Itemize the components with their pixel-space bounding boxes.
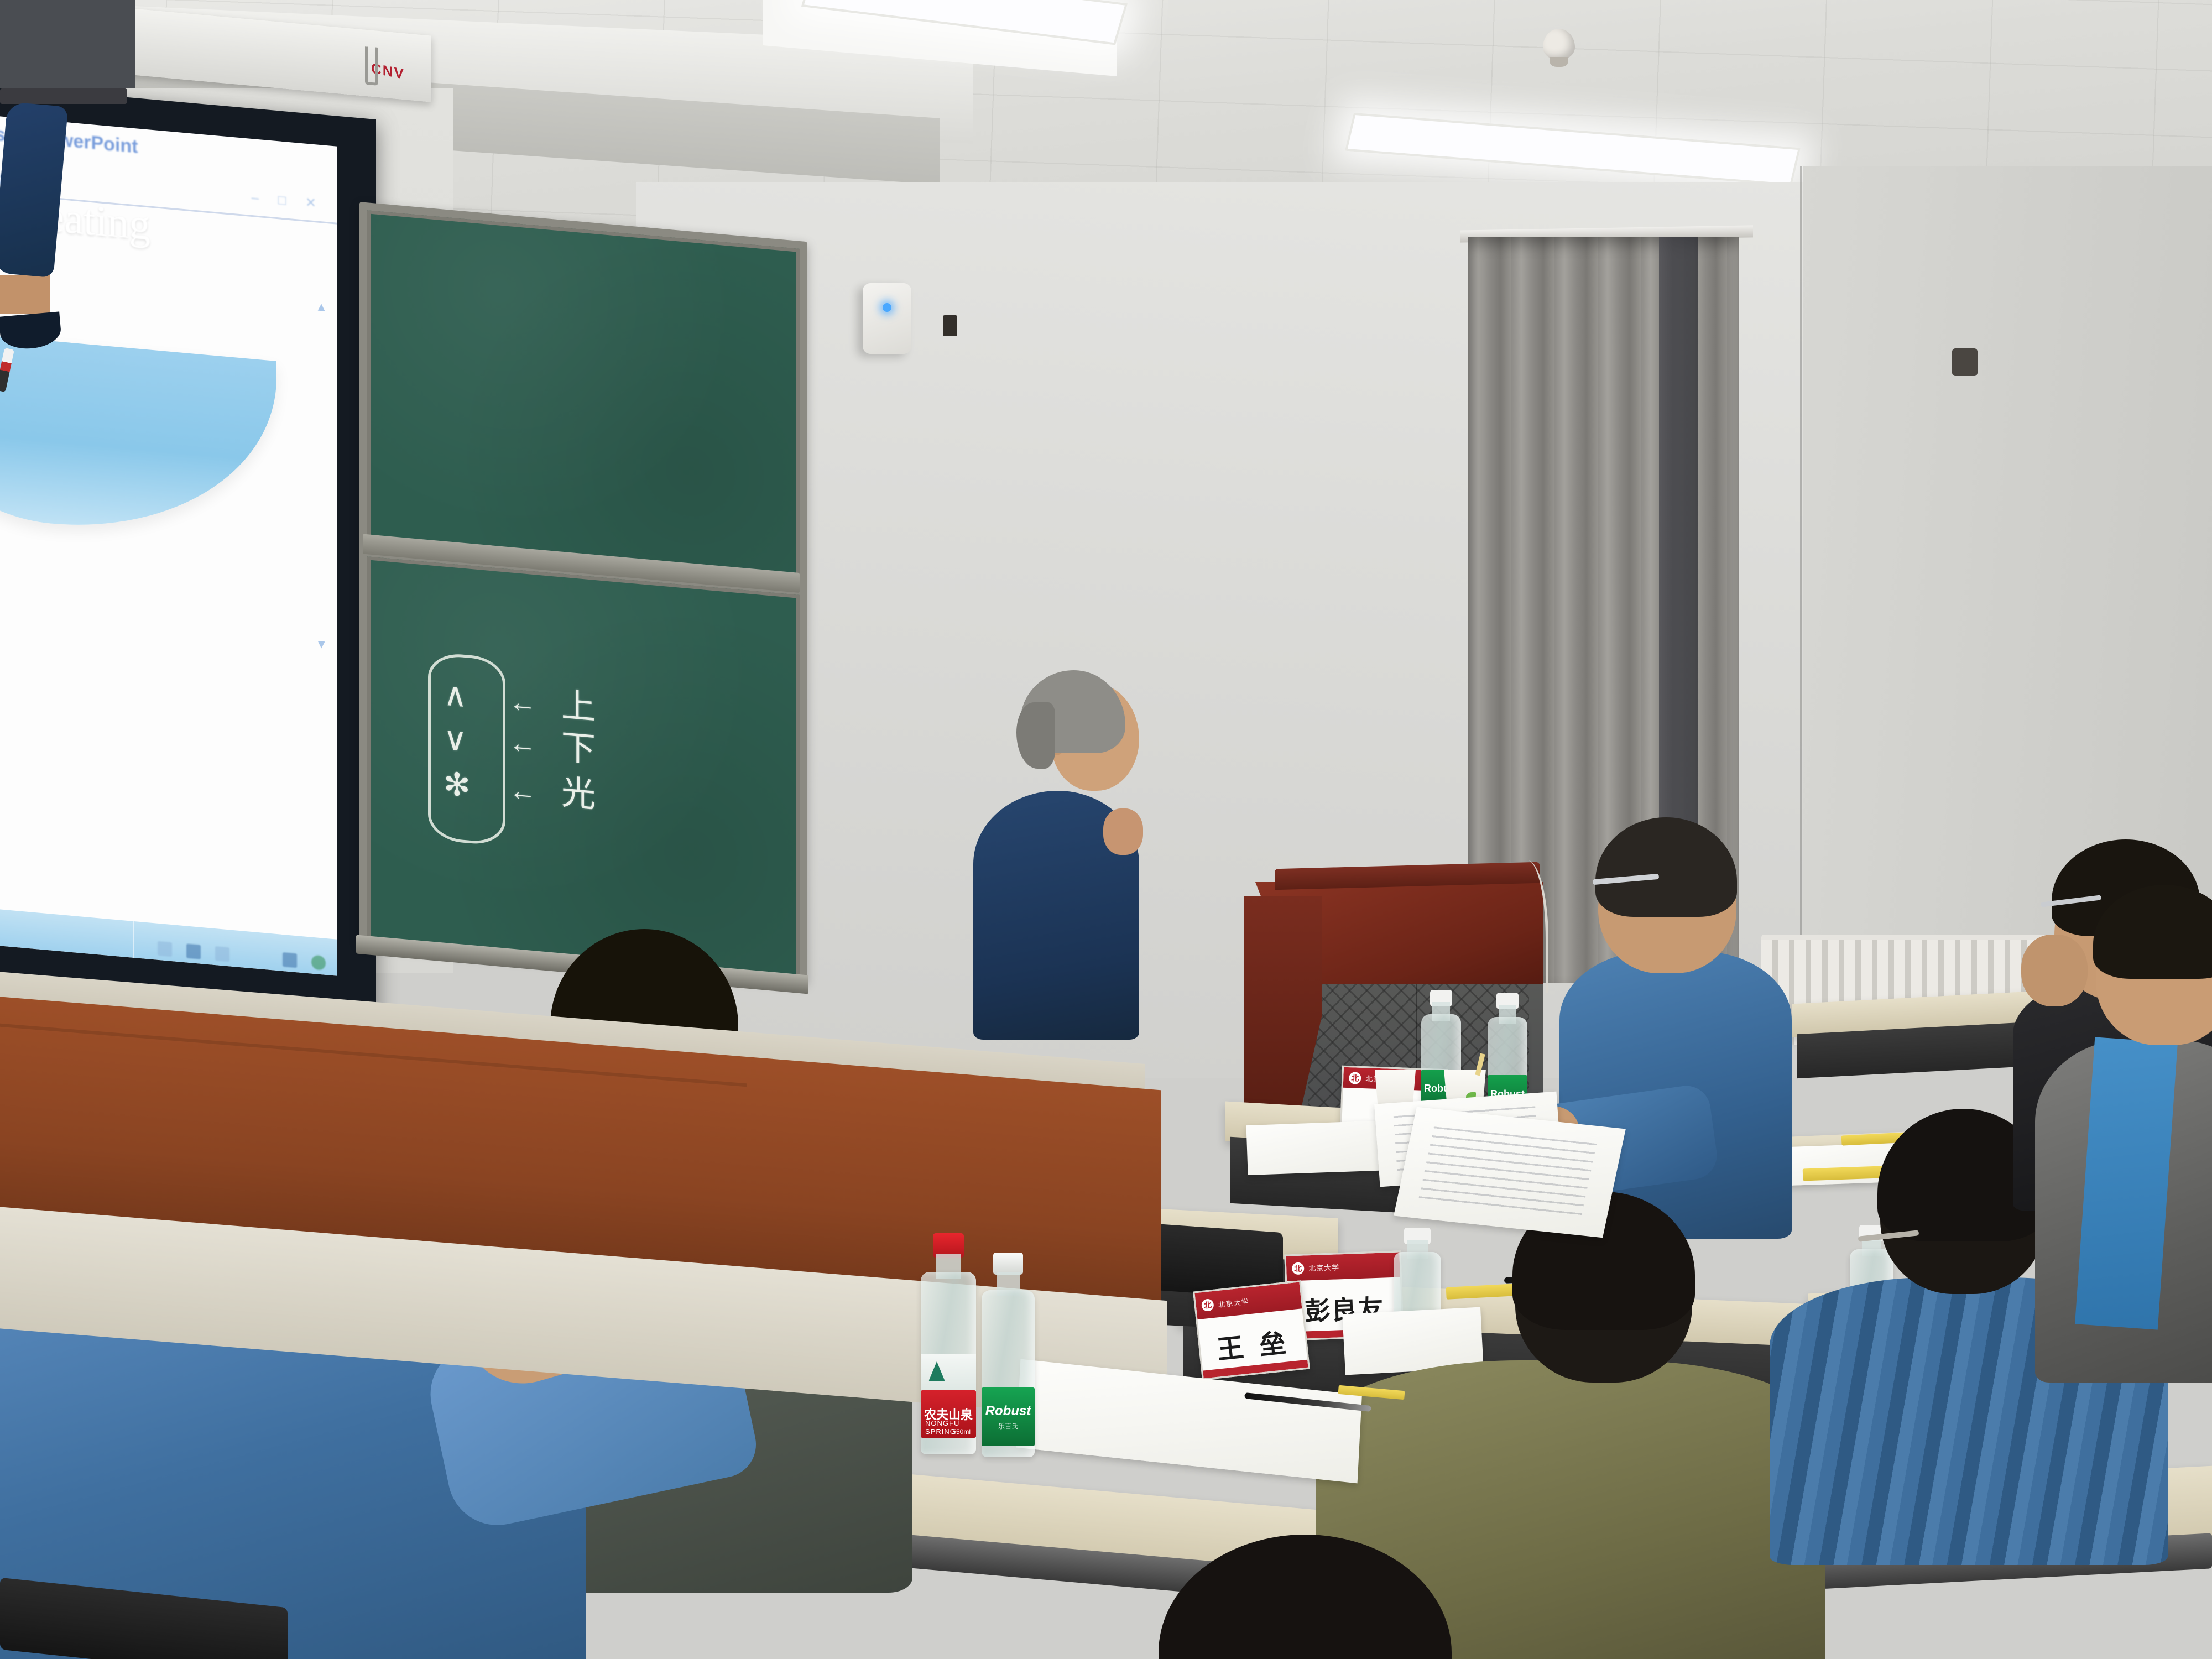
presenter-neck: [0, 275, 50, 314]
blackboard: ∧ ← 上 ∨ ← 下 ✻ ← 光: [359, 202, 807, 983]
tray-icon-document[interactable]: [186, 943, 201, 959]
university-logo-icon: 北: [1292, 1262, 1305, 1275]
university-logo-icon: 北: [1201, 1298, 1214, 1312]
bottle-label-white: [921, 1354, 976, 1390]
bottle-body: 农夫山泉 NONGFU SPRING 550ml: [921, 1272, 976, 1454]
chalk-label-xia: 下: [561, 719, 596, 772]
bottle-label: Robust 乐百氏: [982, 1387, 1035, 1446]
presenter-belt: [0, 88, 127, 104]
lecture-room-photo: CNV Microsoft PowerPoint – □ ✕ 幻灯片放映 设计模…: [0, 0, 2212, 1659]
scroll-down-icon[interactable]: ▼: [315, 637, 327, 652]
presenter-trousers: [0, 0, 135, 88]
taskbar-divider: [133, 921, 134, 958]
document-text-lines: [1418, 1126, 1597, 1220]
logo-glyph: 北: [1351, 1072, 1359, 1083]
audience-hand: [2021, 935, 2088, 1006]
bottle-cap: [993, 1253, 1023, 1275]
blackboard-panel-lower: ∧ ← 上 ∨ ← 下 ✻ ← 光: [367, 556, 800, 981]
chalk-arrow-1: ←: [509, 685, 536, 719]
presenter-arm: [0, 102, 68, 278]
wall-corner-seam: [1800, 166, 1802, 1062]
university-name: 北京大学: [1308, 1261, 1340, 1273]
chalk-label-guang: 光: [561, 764, 596, 817]
chalk-arrow-3: ←: [509, 774, 536, 808]
chalk-symbol-up: ∧: [444, 675, 467, 715]
tray-icon-network[interactable]: [158, 941, 172, 957]
chalk-arrow-2: ←: [509, 726, 536, 760]
wall-speaker-icon: [1952, 348, 1978, 376]
presenter-hand: [1103, 808, 1143, 855]
screen-clip-icon: [365, 46, 378, 86]
name-card-header: 北 北京大学: [1286, 1252, 1400, 1281]
logo-glyph: 北: [1294, 1262, 1302, 1274]
scroll-up-icon[interactable]: ▲: [315, 299, 327, 315]
logo-glyph: 北: [1203, 1299, 1212, 1311]
wall-mounted-device: [863, 283, 911, 354]
mountain-logo-icon: [928, 1361, 945, 1381]
university-logo-icon: 北: [1349, 1072, 1361, 1084]
bottle-volume: 550ml: [952, 1428, 971, 1436]
document-held-by-reader: [1394, 1107, 1626, 1238]
chalk-symbol-star: ✻: [444, 765, 471, 805]
water-bottle-robust: Robust 乐百氏: [982, 1253, 1035, 1457]
wall-sensor-icon: [943, 315, 957, 336]
presenter-collar: [0, 311, 62, 351]
tray-icon-volume[interactable]: [283, 952, 297, 968]
bottle-brand-cn: 乐百氏: [998, 1421, 1018, 1431]
chalk-symbol-down: ∨: [444, 719, 467, 759]
tray-icon-shield[interactable]: [311, 955, 326, 971]
name-card-wang-lei: 北 北京大学 王 垒: [1193, 1280, 1310, 1380]
window-controls[interactable]: – □ ✕: [252, 190, 324, 212]
university-name: 北京大学: [1218, 1296, 1250, 1310]
bottle-body: Robust 乐百氏: [982, 1290, 1035, 1457]
status-led-indicator: [883, 303, 891, 312]
blackboard-panel-upper: [367, 210, 800, 582]
tray-icon-settings[interactable]: [215, 946, 229, 962]
bottle-brand-en: Robust: [985, 1404, 1031, 1419]
presenter: [0, 0, 135, 392]
laser-pointer-icon[interactable]: [0, 348, 14, 392]
water-bottle-nongfu-spring: 农夫山泉 NONGFU SPRING 550ml: [921, 1233, 976, 1454]
